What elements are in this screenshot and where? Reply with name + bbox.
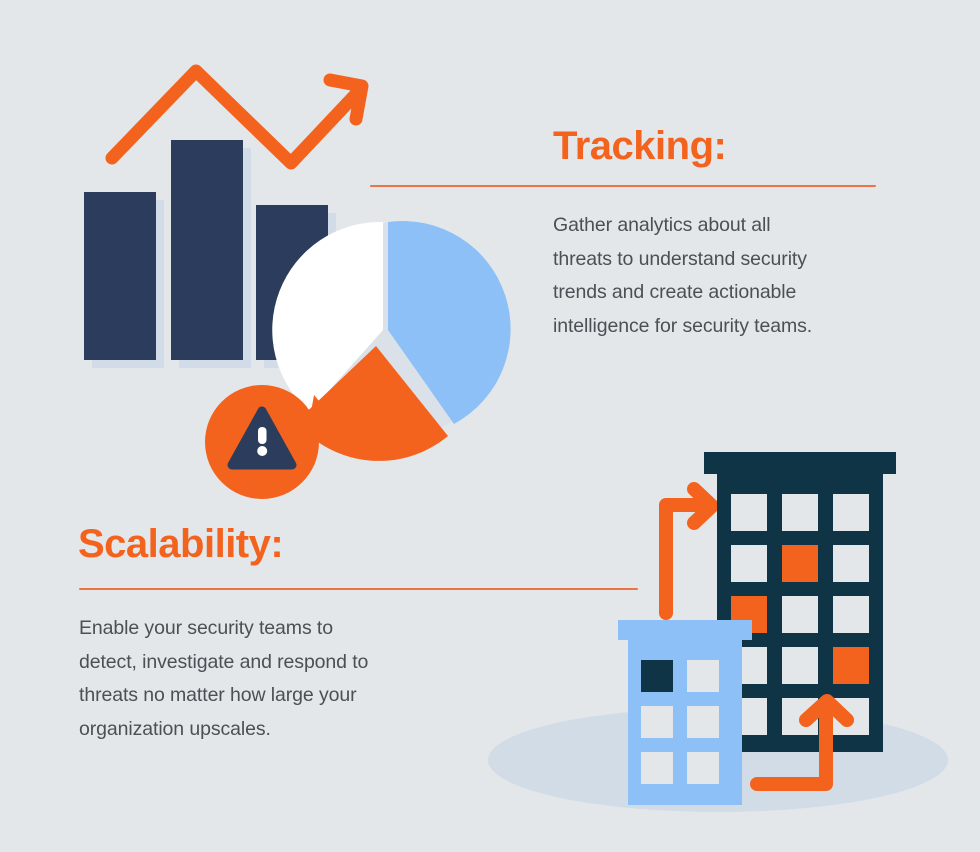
tracking-body-line-1: Gather analytics about all: [553, 209, 883, 243]
scalability-body-line-3: threats no matter how large your: [79, 679, 449, 713]
short-window-r2c2: [687, 706, 719, 738]
tracking-heading: Tracking:: [553, 126, 726, 166]
tall-window-r2c3: [833, 545, 869, 582]
scalability-body-line-1: Enable your security teams to: [79, 612, 449, 646]
tall-window-r1c3: [833, 494, 869, 531]
growth-trend-arrow: [0, 0, 420, 220]
short-building: [618, 620, 752, 810]
short-window-r3c2: [687, 752, 719, 784]
tall-building-roof: [704, 452, 896, 474]
tall-window-r4c3: [833, 647, 869, 684]
short-window-r1c1: [641, 660, 673, 692]
tall-window-r4c2: [782, 647, 818, 684]
tall-window-r1c2: [782, 494, 818, 531]
tall-window-r3c2: [782, 596, 818, 633]
tracking-body-line-2: threats to understand security: [553, 243, 883, 277]
tracking-divider: [370, 185, 876, 187]
tall-window-r2c1: [731, 545, 767, 582]
scalability-body-line-4: organization upscales.: [79, 713, 449, 747]
short-window-r1c2: [687, 660, 719, 692]
short-window-r2c1: [641, 706, 673, 738]
tracking-body-line-4: intelligence for security teams.: [553, 310, 883, 344]
tall-window-r2c2: [782, 545, 818, 582]
tall-window-r1c1: [731, 494, 767, 531]
scalability-heading: Scalability:: [78, 524, 283, 564]
scalability-body-line-2: detect, investigate and respond to: [79, 646, 449, 680]
tracking-body-line-3: trends and create actionable: [553, 276, 883, 310]
infographic-canvas: Tracking: Gather analytics about all thr…: [0, 0, 980, 852]
scalability-body: Enable your security teams to detect, in…: [79, 612, 449, 746]
short-window-r3c1: [641, 752, 673, 784]
alert-badge: [196, 375, 336, 515]
short-building-roof: [618, 620, 752, 640]
tall-window-r3c3: [833, 596, 869, 633]
analytics-chart-illustration: [0, 0, 520, 520]
tracking-body: Gather analytics about all threats to un…: [553, 209, 883, 343]
scale-up-arrow-bottom: [750, 680, 910, 810]
buildings-scalability-illustration: [470, 430, 980, 852]
